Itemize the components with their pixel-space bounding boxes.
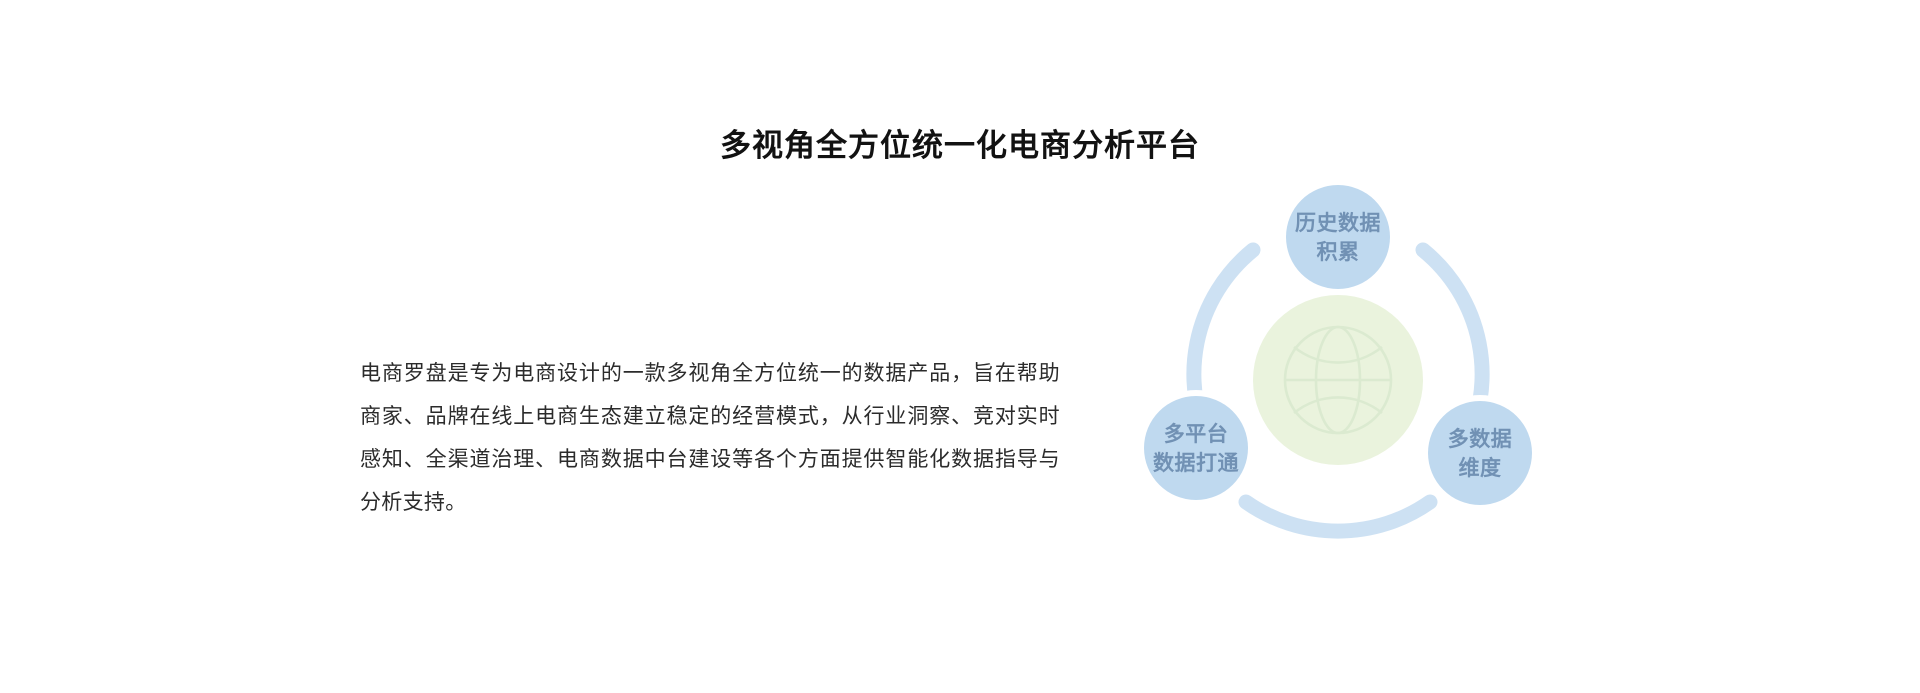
node-history-data[interactable]: 历史数据 积累 [1280, 179, 1396, 295]
page-root: 多视角全方位统一化电商分析平台 电商罗盘是专为电商设计的一款多视角全方位统一的数… [0, 0, 1920, 693]
node-label-line2: 数据打通 [1153, 452, 1239, 475]
node-label-line2: 积累 [1317, 241, 1360, 264]
ring-arc-bottom [1246, 502, 1430, 531]
node-circle [1428, 401, 1532, 505]
node-label-line1: 多平台 [1164, 422, 1229, 446]
capability-ring-diagram: 历史数据 积累 多平台 数据打通 多数据 维度 [1118, 175, 1558, 575]
node-multi-platform[interactable]: 多平台 数据打通 [1138, 390, 1254, 506]
product-description: 电商罗盘是专为电商设计的一款多视角全方位统一的数据产品，旨在帮助商家、品牌在线上… [360, 352, 1060, 524]
node-circle [1144, 396, 1248, 500]
page-title: 多视角全方位统一化电商分析平台 [0, 127, 1920, 164]
node-label-line2: 维度 [1459, 456, 1502, 480]
node-label-line1: 历史数据 [1295, 212, 1381, 235]
node-circle [1286, 185, 1390, 289]
node-multi-dimension[interactable]: 多数据 维度 [1422, 395, 1538, 511]
node-label-line1: 多数据 [1448, 427, 1513, 451]
